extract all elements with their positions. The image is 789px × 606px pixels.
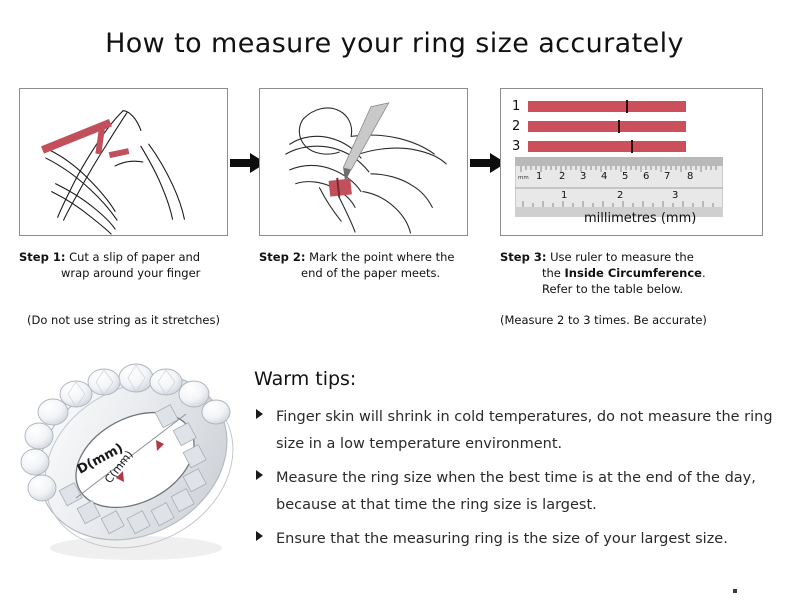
warm-tips-list: Finger skin will shrink in cold temperat… xyxy=(254,404,774,560)
step-1-label: Step 1: xyxy=(19,250,65,264)
step-1-line2: wrap around your finger xyxy=(19,265,244,281)
paper-strip xyxy=(528,101,686,112)
ring-diagram: D(mm) C(mm) xyxy=(18,352,253,577)
paper-band xyxy=(329,178,352,198)
step-1-illustration xyxy=(19,88,228,236)
triangle-bullet-icon xyxy=(256,470,263,480)
tip-text: Finger skin will shrink in cold temperat… xyxy=(276,404,774,458)
tip-item: Ensure that the measuring ring is the si… xyxy=(254,526,774,553)
strip-number: 1 xyxy=(512,100,528,113)
step-2-line1: Mark the point where the xyxy=(309,250,454,264)
step-3-line2: the Inside Circumference. xyxy=(500,265,775,281)
ruler-cm-tick: 2 xyxy=(559,171,565,182)
tip-item: Finger skin will shrink in cold temperat… xyxy=(254,404,774,458)
step-3-caption: Step 3: Use ruler to measure the the Ins… xyxy=(500,249,775,297)
step-3-illustration: 1 2 3 xyxy=(500,88,763,236)
step-3-line2-post: . xyxy=(702,266,706,280)
ruler-inch-tick: 2 xyxy=(617,190,623,201)
triangle-bullet-icon xyxy=(256,531,263,541)
step-3-line1: Use ruler to measure the xyxy=(550,250,694,264)
ring-size-guide-page: How to measure your ring size accurately xyxy=(0,0,789,606)
measured-strip-row: 3 xyxy=(512,140,690,153)
warm-tips-heading: Warm tips: xyxy=(254,368,356,390)
ruler-cm-tick: 6 xyxy=(643,171,649,182)
measured-strip-row: 2 xyxy=(512,120,690,133)
ruler-cm-tick: 8 xyxy=(687,171,693,182)
hand-with-paper-slip-drawing xyxy=(20,89,227,235)
ruler-cm-tick: 5 xyxy=(622,171,628,182)
units-caption: millimetres (mm) xyxy=(584,211,696,226)
step-3-line3: Refer to the table below. xyxy=(500,281,775,297)
tip-text: Ensure that the measuring ring is the si… xyxy=(276,526,774,553)
step-3-note: (Measure 2 to 3 times. Be accurate) xyxy=(500,313,707,327)
step-2-caption: Step 2: Mark the point where the end of … xyxy=(259,249,487,281)
step-3-line2-pre: the xyxy=(542,266,565,280)
pen xyxy=(343,103,389,182)
step-1-note: (Do not use string as it stretches) xyxy=(27,313,220,327)
step-1-caption: Step 1: Cut a slip of paper and wrap aro… xyxy=(19,249,244,281)
tip-item: Measure the ring size when the best time… xyxy=(254,465,774,519)
step-2-line2: end of the paper meets. xyxy=(259,265,487,281)
steps-illustration-row: 1 2 3 xyxy=(0,88,789,238)
inside-circumference-emphasis: Inside Circumference xyxy=(565,266,702,280)
ruler: mm 1 2 3 4 5 6 7 8 1 2 3 xyxy=(515,157,723,217)
ruler-cm-tick: 4 xyxy=(601,171,607,182)
ruler-cm-tick: 1 xyxy=(536,171,542,182)
corner-artifact xyxy=(733,589,737,593)
measured-strip-row: 1 xyxy=(512,100,690,113)
strip-mark xyxy=(626,100,628,113)
strip-mark xyxy=(618,120,620,133)
ruler-cm-tick: 7 xyxy=(664,171,670,182)
ruler-mm-label: mm xyxy=(518,175,529,181)
paper-strip xyxy=(528,121,686,132)
ruler-cm-tick: 3 xyxy=(580,171,586,182)
strip-number: 3 xyxy=(512,140,528,153)
ruler-inch-tick: 3 xyxy=(672,190,678,201)
ruler-inch-tick: 1 xyxy=(561,190,567,201)
paper-strip xyxy=(528,141,686,152)
step-1-line1: Cut a slip of paper and xyxy=(69,250,200,264)
step-2-label: Step 2: xyxy=(259,250,305,264)
strip-mark xyxy=(631,140,633,153)
page-title: How to measure your ring size accurately xyxy=(0,28,789,59)
step-3-label: Step 3: xyxy=(500,250,546,264)
marking-paper-with-pen-drawing xyxy=(260,89,467,235)
step-2-illustration xyxy=(259,88,468,236)
tip-text: Measure the ring size when the best time… xyxy=(276,465,774,519)
triangle-bullet-icon xyxy=(256,409,263,419)
strip-number: 2 xyxy=(512,120,528,133)
